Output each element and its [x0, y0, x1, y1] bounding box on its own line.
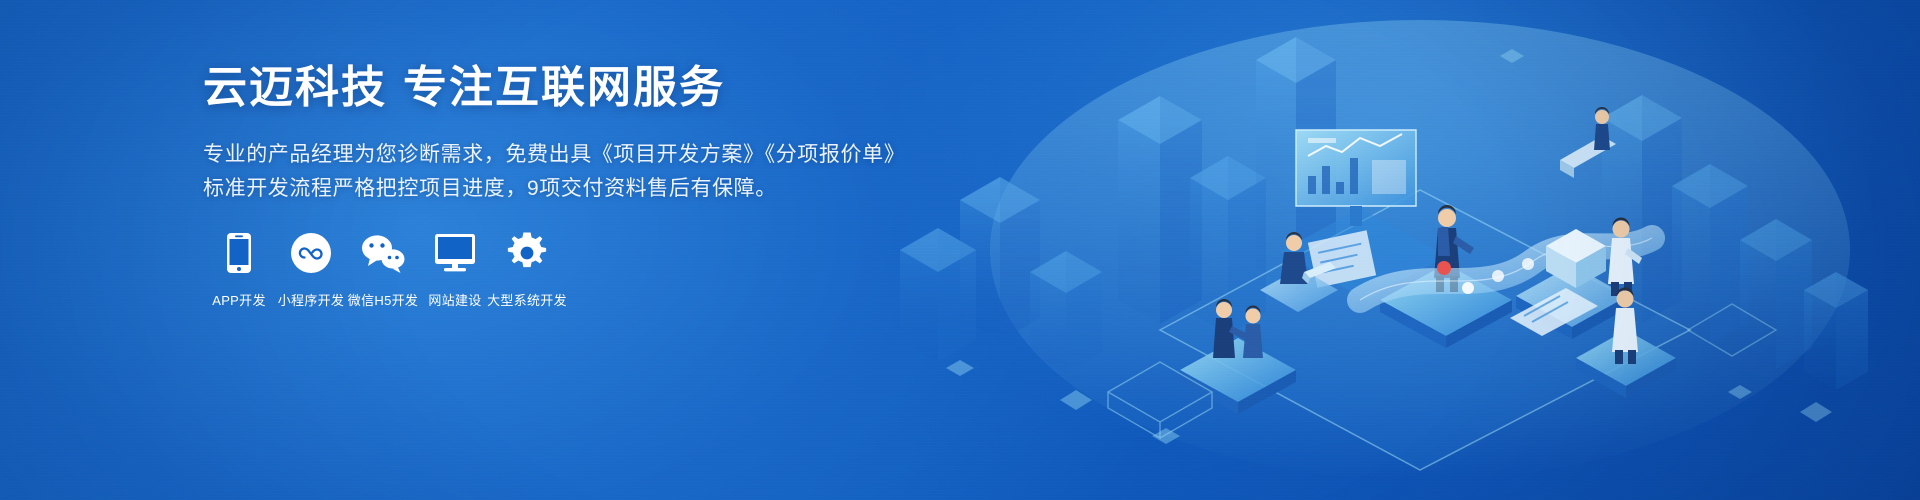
hero-banner: 云迈科技专注互联网服务 专业的产品经理为您诊断需求，免费出具《项目开发方案》《分… [0, 0, 1920, 500]
mini-program-icon [290, 230, 332, 276]
title-tagline: 专注互联网服务 [403, 63, 725, 112]
service-label-wechat-h5: 微信H5开发 [348, 290, 418, 309]
service-label-website: 网站建设 [428, 290, 481, 309]
illustration [860, 0, 1920, 500]
service-item-app[interactable]: APP开发 [203, 230, 275, 309]
gear-icon [506, 230, 548, 276]
service-item-wechat-h5[interactable]: 微信H5开发 [347, 230, 419, 309]
page-title: 云迈科技专注互联网服务 [203, 62, 923, 114]
service-item-website[interactable]: 网站建设 [419, 230, 491, 309]
monitor-icon [434, 230, 476, 276]
hero-copy: 云迈科技专注互联网服务 专业的产品经理为您诊断需求，免费出具《项目开发方案》《分… [203, 62, 923, 206]
subtitle-line-2: 标准开发流程严格把控项目进度，9项交付资料售后有保障。 [203, 172, 923, 206]
hero-subtitle: 专业的产品经理为您诊断需求，免费出具《项目开发方案》《分项报价单》 标准开发流程… [203, 138, 923, 206]
service-list: APP开发 小程序开发 [203, 230, 563, 309]
service-label-mini-program: 小程序开发 [278, 290, 345, 309]
title-brand: 云迈科技 [203, 63, 387, 112]
service-item-large-system[interactable]: 大型系统开发 [491, 230, 563, 309]
service-label-app: APP开发 [212, 290, 266, 309]
mobile-phone-icon [226, 230, 252, 276]
service-item-mini-program[interactable]: 小程序开发 [275, 230, 347, 309]
service-label-large-system: 大型系统开发 [487, 290, 567, 309]
wechat-icon [360, 230, 406, 276]
subtitle-line-1: 专业的产品经理为您诊断需求，免费出具《项目开发方案》《分项报价单》 [203, 138, 923, 172]
